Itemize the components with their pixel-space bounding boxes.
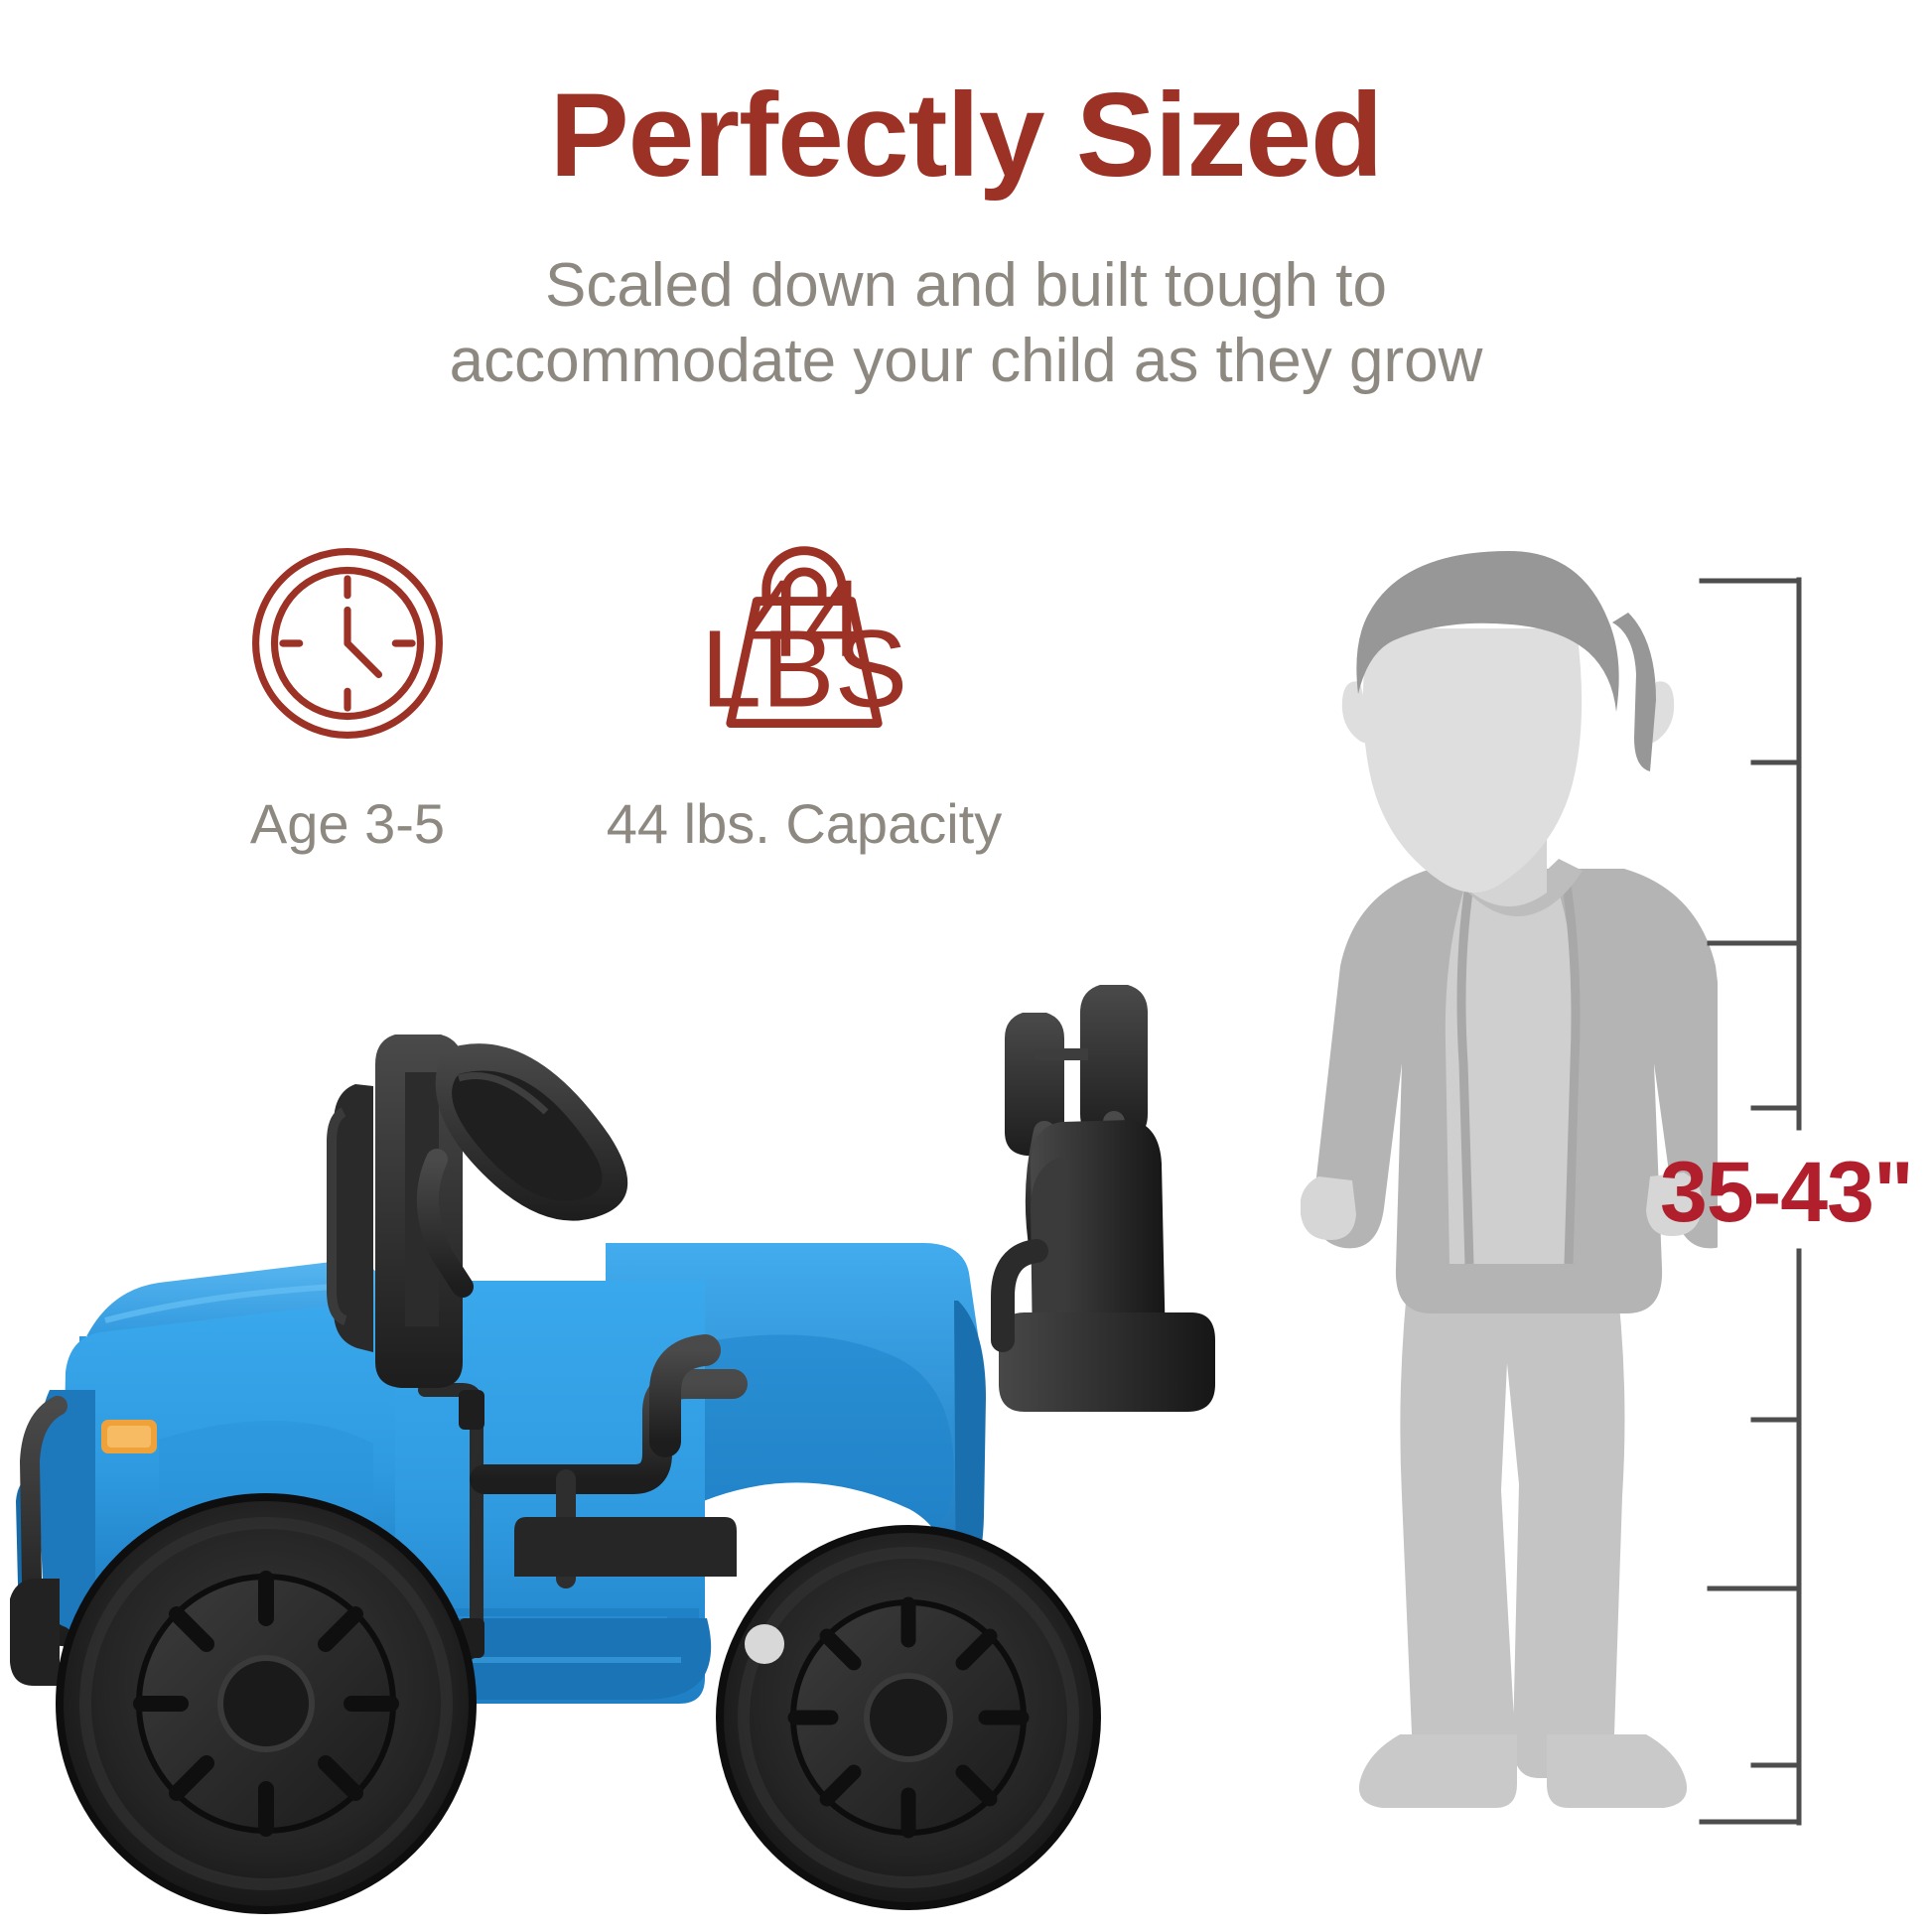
child-pants (1400, 1246, 1624, 1778)
height-range-label: 35-43" (1660, 1144, 1913, 1242)
child-face (1363, 628, 1582, 893)
ride-on-jeep-illustration (10, 923, 1330, 1926)
feature-list: Age 3-5 44 LBS 44 lbs. Capacity (119, 536, 1231, 856)
page-subtitle: Scaled down and built tough to accommoda… (0, 248, 1932, 398)
vehicle-hub-cap (745, 1624, 784, 1664)
feature-capacity: 44 LBS 44 lbs. Capacity (576, 536, 1033, 856)
vehicle-seat (999, 985, 1215, 1412)
weight-bag-icon: 44 LBS (699, 536, 909, 750)
vehicle-rear-wheel (720, 1529, 1097, 1906)
weight-badge-unit: LBS (701, 608, 907, 730)
feature-age: Age 3-5 (119, 536, 576, 856)
child-silhouette (1301, 551, 1718, 1842)
child-jacket (1313, 859, 1718, 1313)
subtitle-line-1: Scaled down and built tough to (0, 248, 1932, 324)
infographic-canvas: Perfectly Sized Scaled down and built to… (0, 0, 1932, 1932)
vehicle-front-wheel (60, 1497, 473, 1910)
subtitle-line-2: accommodate your child as they grow (0, 324, 1932, 399)
feature-age-label: Age 3-5 (250, 791, 445, 856)
clock-icon (243, 536, 452, 750)
child-hair-side (1612, 613, 1656, 771)
page-title: Perfectly Sized (0, 71, 1932, 201)
feature-capacity-label: 44 lbs. Capacity (607, 791, 1002, 856)
